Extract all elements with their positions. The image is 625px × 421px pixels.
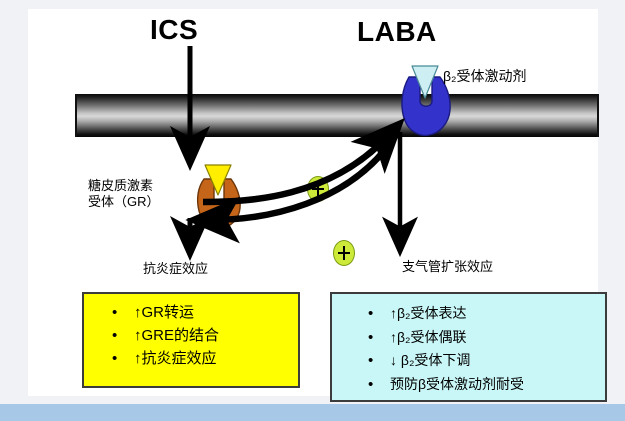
yellow-effect-list: •↑GR转运 •↑GRE的结合 •↑抗炎症效应 xyxy=(84,302,298,370)
list-item: •↑GRE的结合 xyxy=(84,325,298,348)
ics-triangle-icon xyxy=(204,164,232,196)
bullet-icon: • xyxy=(368,326,390,350)
yellow-item-1: ↑GRE的结合 xyxy=(134,325,219,348)
cyan-item-2: ↓ β₂受体下调 xyxy=(390,349,470,371)
bullet-icon: • xyxy=(368,373,390,397)
beta2-agonist-label: β₂受体激动剂 xyxy=(443,68,527,86)
anti-inflammatory-effects-box: •↑GR转运 •↑GRE的结合 •↑抗炎症效应 xyxy=(82,292,300,388)
cyan-effect-list: •↑β₂受体表达 •↑β₂受体偶联 •↓ β₂受体下调 •预防β受体激动剂耐受 xyxy=(332,302,605,397)
bronchodilation-effects-box: •↑β₂受体表达 •↑β₂受体偶联 •↓ β₂受体下调 •预防β受体激动剂耐受 xyxy=(330,292,607,402)
gr-label-line1: 糖皮质激素 xyxy=(88,178,160,194)
list-item: •↑抗炎症效应 xyxy=(84,348,298,371)
list-item: •预防β受体激动剂耐受 xyxy=(332,373,605,397)
bottom-accent-strip xyxy=(0,404,625,421)
list-item: •↑β₂受体表达 xyxy=(332,302,605,326)
laba-triangle-icon xyxy=(411,65,439,99)
laba-drug-triangle xyxy=(411,65,439,99)
bullet-icon: • xyxy=(112,302,134,325)
list-item: •↓ β₂受体下调 xyxy=(332,349,605,373)
ics-title: ICS xyxy=(150,14,198,46)
gr-label-line2: 受体（GR） xyxy=(88,194,160,210)
gr-receptor-label: 糖皮质激素 受体（GR） xyxy=(88,178,160,211)
anti-inflammatory-effect-label: 抗炎症效应 xyxy=(143,261,208,277)
cell-membrane-bar xyxy=(75,94,599,137)
plus-node-upper xyxy=(307,176,329,202)
cyan-item-0: ↑β₂受体表达 xyxy=(390,302,467,324)
cyan-item-1: ↑β₂受体偶联 xyxy=(390,326,467,348)
yellow-item-2: ↑抗炎症效应 xyxy=(134,348,217,371)
bullet-icon: • xyxy=(112,348,134,371)
bullet-icon: • xyxy=(112,325,134,348)
bronchodilation-effect-label: 支气管扩张效应 xyxy=(402,259,493,275)
slide-canvas: β₂受体激动剂 糖皮质激素 受体（GR） 抗炎症效应 支气管扩张效应 •↑GR转… xyxy=(0,0,625,421)
list-item: •↑GR转运 xyxy=(84,302,298,325)
list-item: •↑β₂受体偶联 xyxy=(332,326,605,350)
yellow-item-0: ↑GR转运 xyxy=(134,302,194,325)
laba-title: LABA xyxy=(357,16,437,48)
slide-white-area: β₂受体激动剂 糖皮质激素 受体（GR） 抗炎症效应 支气管扩张效应 •↑GR转… xyxy=(28,9,598,396)
ics-drug-triangle xyxy=(204,164,232,196)
plus-node-lower xyxy=(333,240,355,266)
bullet-icon: • xyxy=(368,302,390,326)
cyan-item-3: 预防β受体激动剂耐受 xyxy=(390,373,524,395)
bullet-icon: • xyxy=(368,349,390,373)
